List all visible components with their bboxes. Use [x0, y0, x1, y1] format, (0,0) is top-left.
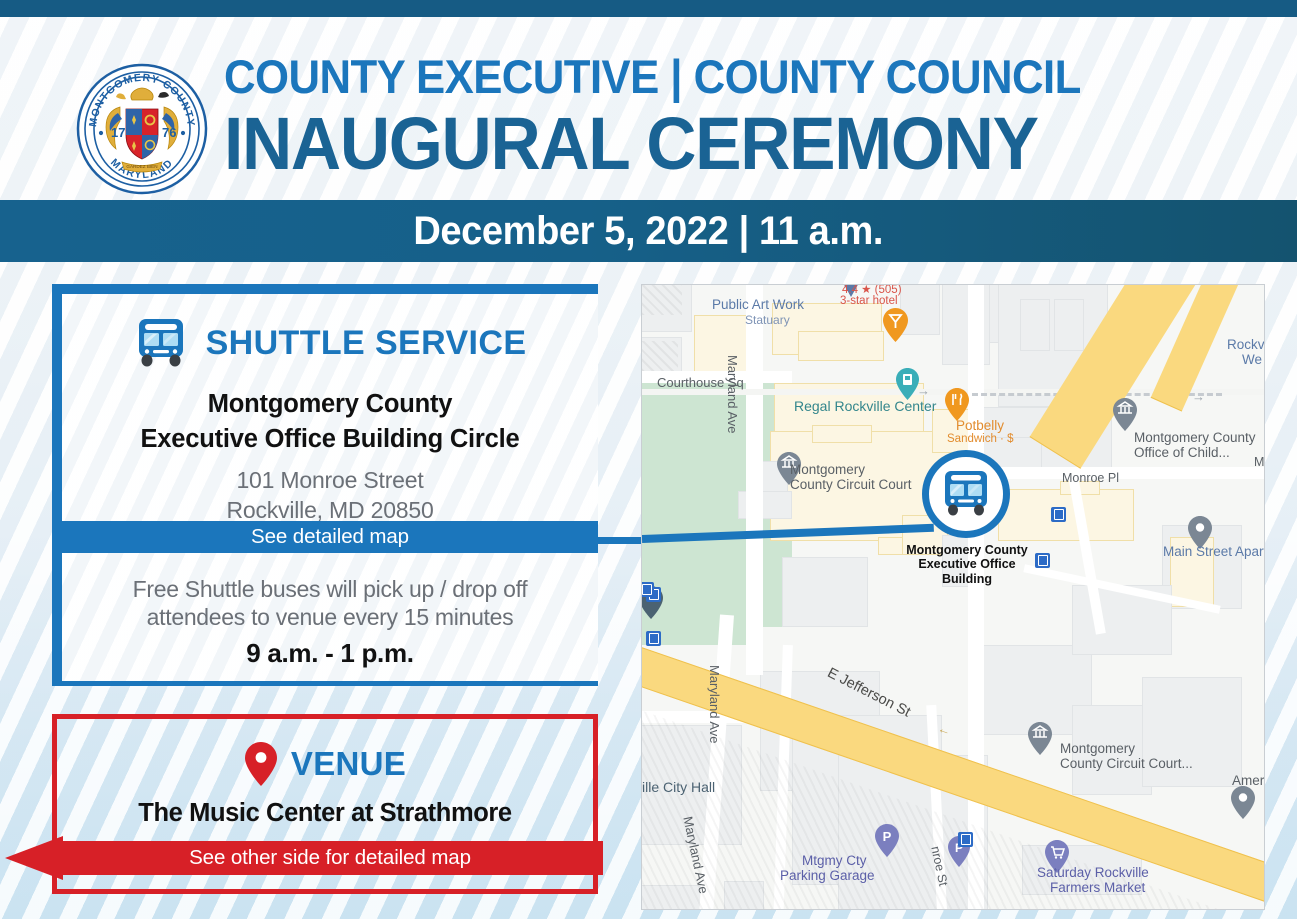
arrow-head-icon	[5, 836, 63, 880]
map-label: Rockvi	[1227, 337, 1265, 352]
marker-label-line1: Montgomery County	[887, 543, 1047, 557]
shuttle-address-line1: 101 Monroe Street	[226, 466, 433, 495]
svg-text:GARDEZ BIEN: GARDEZ BIEN	[126, 164, 157, 169]
pin-parking-garage-icon[interactable]: P	[874, 823, 900, 858]
map-building	[694, 315, 750, 373]
map-building	[798, 331, 884, 361]
map-building	[782, 557, 868, 627]
page-title-line1: COUNTY EXECUTIVE | COUNTY COUNCIL	[224, 53, 1154, 100]
shuttle-pickup-marker[interactable]	[922, 450, 1010, 538]
map-hatched-area-2	[641, 284, 682, 315]
shuttle-address: 101 Monroe Street Rockville, MD 20850	[226, 466, 433, 525]
map-label: Sandwich · $	[947, 433, 1013, 445]
map-label: Montgomery	[1060, 741, 1135, 756]
arrow-bar: See other side for detailed map	[57, 841, 603, 875]
map-label: Maryland Ave	[707, 665, 722, 744]
page-title-line2: INAUGURAL CEREMONY	[224, 106, 1164, 181]
venue-heading: VENUE	[291, 745, 406, 783]
map-label: Statuary	[745, 313, 790, 327]
pin-restaurant-hotel-icon[interactable]	[882, 307, 909, 343]
map-label: Office of Child...	[1134, 445, 1230, 460]
map-pin-icon	[244, 741, 278, 787]
shuttle-pickup-marker-label: Montgomery County Executive Office Build…	[887, 543, 1047, 586]
map-label: ille City Hall	[642, 779, 715, 795]
map-building	[998, 489, 1134, 541]
shuttle-heading: SHUTTLE SERVICE	[206, 324, 527, 363]
bus-stop-icon[interactable]	[1051, 507, 1066, 522]
marker-label-line2: Executive Office	[887, 557, 1047, 571]
map-label: Saturday Rockville	[1037, 865, 1149, 880]
shuttle-note-line2: attendees to venue every 15 minutes	[133, 603, 528, 631]
map-label: Regal Rockville Center	[794, 398, 936, 414]
map-label: Montgomery County	[1134, 430, 1256, 445]
map-label: Parking Garage	[780, 868, 875, 883]
venue-panel: VENUE The Music Center at Strathmore See…	[52, 714, 598, 894]
page-header: MONTGOMERY COUNTY MARYLAND GARDEZ BIEN 1…	[0, 17, 1297, 200]
shuttle-service-panel: SHUTTLE SERVICE Montgomery County Execut…	[52, 284, 598, 686]
svg-text:17: 17	[111, 125, 125, 140]
svg-text:P: P	[883, 829, 892, 844]
shuttle-note: Free Shuttle buses will pick up / drop o…	[133, 575, 528, 631]
map-label: Monroe Pl	[1062, 471, 1119, 485]
bus-stop-icon[interactable]	[641, 582, 654, 597]
one-way-arrow-icon: ←	[1225, 909, 1242, 910]
map-label: Public Art Work	[712, 297, 804, 312]
pin-circuit-court-2-icon[interactable]	[1027, 721, 1053, 756]
map-label: Monroe St	[1254, 455, 1265, 469]
map-building	[1054, 299, 1084, 351]
one-way-arrow-icon: →	[917, 383, 930, 398]
event-date-text: December 5, 2022 | 11 a.m.	[414, 209, 884, 254]
map-label: We	[1242, 352, 1262, 367]
shuttle-heading-row: SHUTTLE SERVICE	[134, 318, 527, 368]
see-detailed-map-band[interactable]: See detailed map	[62, 521, 598, 553]
shuttle-location-line1: Montgomery County	[140, 387, 519, 422]
bus-stop-icon[interactable]	[958, 832, 973, 847]
bus-marker-icon	[940, 470, 992, 518]
map-building	[1020, 299, 1050, 351]
map-canvas: P P → → ← ←	[642, 285, 1264, 909]
marker-label-line3: Building	[887, 572, 1047, 586]
pin-potbelly-icon[interactable]	[944, 387, 970, 422]
map-hatched-area-3	[641, 341, 678, 371]
see-other-side-arrow[interactable]: See other side for detailed map	[5, 836, 603, 880]
top-accent-strip	[0, 0, 1297, 17]
map-road-monroe	[968, 284, 984, 910]
bus-stop-icon[interactable]	[646, 631, 661, 646]
map-label: County Circuit Court...	[1060, 756, 1193, 771]
pin-office-of-child-icon[interactable]	[1112, 397, 1138, 432]
rockville-location-map[interactable]: P P → → ← ←	[641, 284, 1265, 910]
see-other-side-label: See other side for detailed map	[189, 846, 471, 870]
map-label: Mtgmy Cty	[802, 853, 867, 868]
see-detailed-map-label: See detailed map	[251, 525, 409, 549]
header-titles: COUNTY EXECUTIVE | COUNTY COUNCIL INAUGU…	[224, 53, 1224, 181]
shuttle-location: Montgomery County Executive Office Build…	[140, 387, 519, 457]
map-road-maryland-ave	[746, 284, 763, 675]
pin-american-icon[interactable]	[1230, 785, 1256, 820]
shuttle-info-block: SHUTTLE SERVICE Montgomery County Execut…	[62, 294, 598, 521]
map-label: Farmers Market	[1050, 880, 1145, 895]
shuttle-schedule-block: Free Shuttle buses will pick up / drop o…	[62, 553, 598, 681]
map-label: Amer	[1232, 773, 1264, 788]
map-label: Main Street Apart	[1163, 544, 1265, 559]
venue-heading-row: VENUE	[57, 741, 593, 787]
venue-name: The Music Center at Strathmore	[57, 799, 593, 828]
map-label: County Circuit Court	[790, 477, 912, 492]
svg-text:76: 76	[162, 125, 176, 140]
shuttle-note-line1: Free Shuttle buses will pick up / drop o…	[133, 575, 528, 603]
bus-icon	[134, 318, 188, 368]
shuttle-location-line2: Executive Office Building Circle	[140, 422, 519, 457]
map-label: Potbelly	[956, 418, 1004, 433]
map-label: 3-star hotel	[840, 295, 898, 307]
shuttle-hours: 9 a.m. - 1 p.m.	[246, 638, 413, 669]
montgomery-county-seal-icon: MONTGOMERY COUNTY MARYLAND GARDEZ BIEN 1…	[74, 61, 210, 197]
map-building	[812, 425, 872, 443]
event-date-bar: December 5, 2022 | 11 a.m.	[0, 200, 1297, 262]
map-label: Montgomery	[790, 462, 865, 477]
one-way-arrow-icon: →	[1192, 389, 1205, 404]
map-label: Maryland Ave	[725, 355, 740, 434]
